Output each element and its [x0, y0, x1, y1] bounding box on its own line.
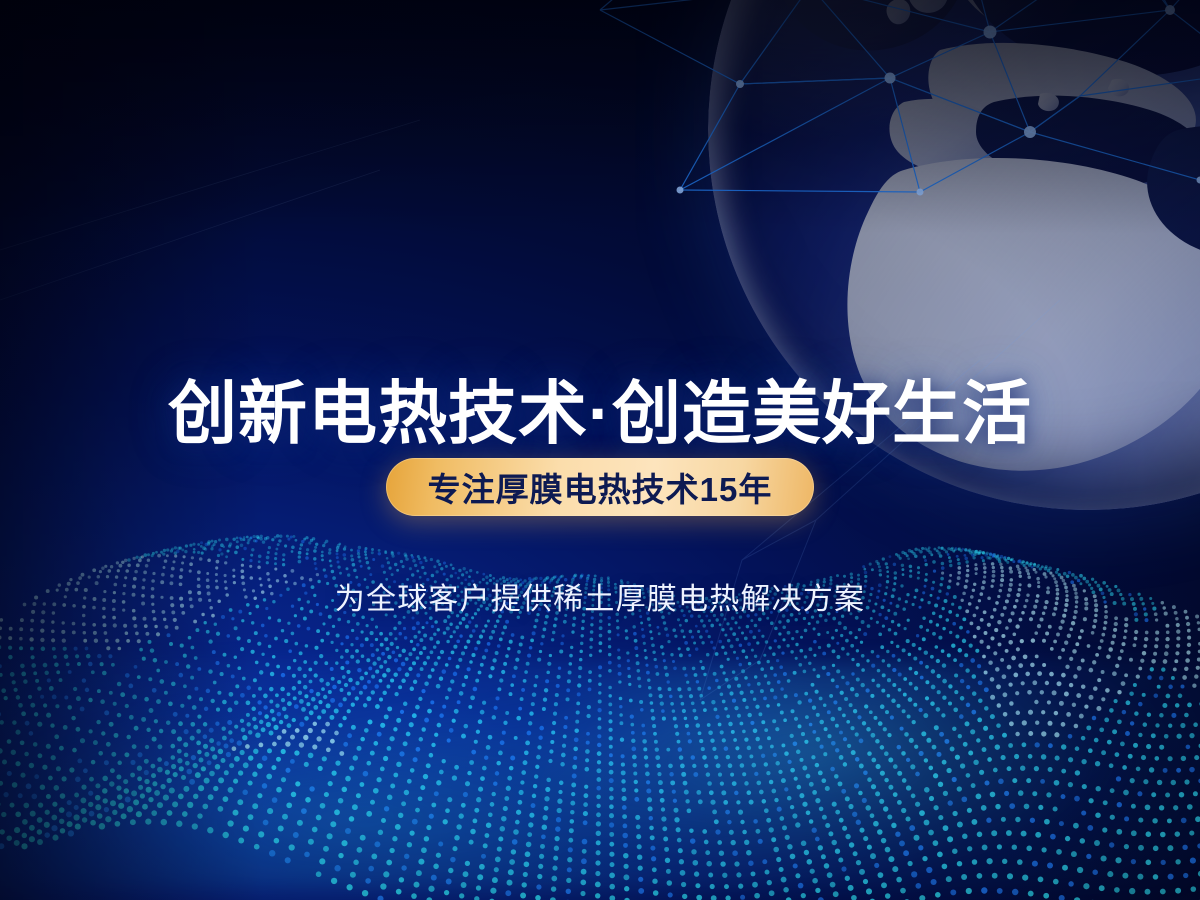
badge-row: 专注厚膜电热技术15年: [0, 458, 1200, 516]
banner-content: 创新电热技术·创造美好生活 专注厚膜电热技术15年 为全球客户提供稀土厚膜电热解…: [0, 0, 1200, 900]
page-subtitle: 为全球客户提供稀土厚膜电热解决方案: [0, 574, 1200, 618]
experience-badge: 专注厚膜电热技术15年: [386, 458, 815, 516]
page-title: 创新电热技术·创造美好生活: [0, 378, 1200, 450]
hero-banner: 创新电热技术·创造美好生活 专注厚膜电热技术15年 为全球客户提供稀土厚膜电热解…: [0, 0, 1200, 900]
